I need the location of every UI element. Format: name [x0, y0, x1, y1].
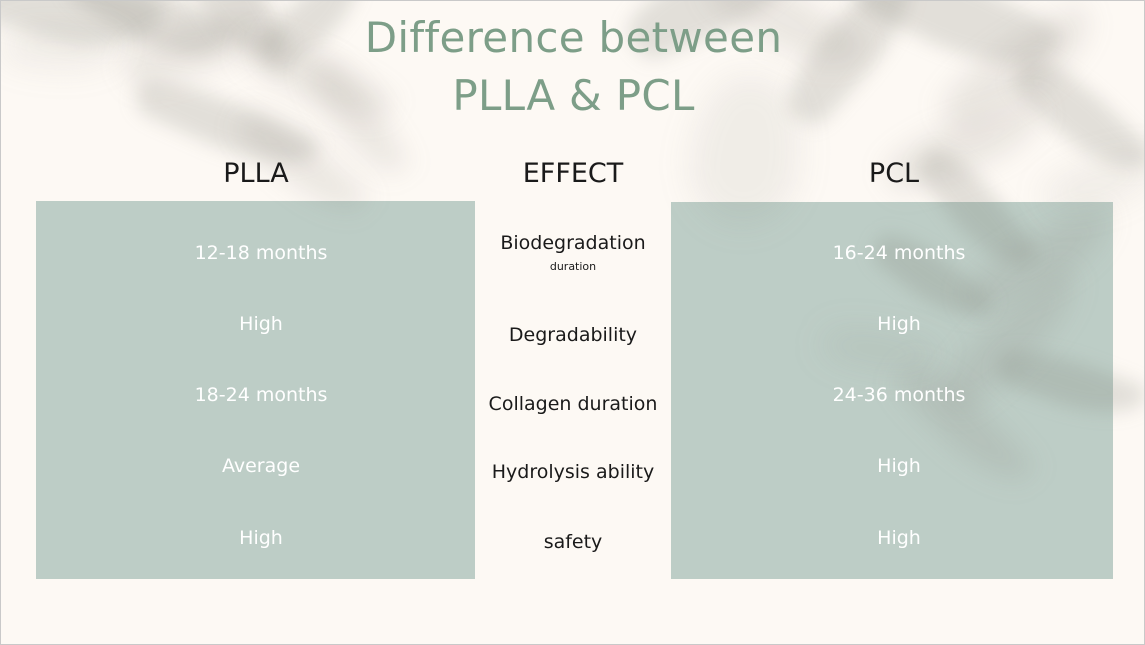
effect-label: Degradability	[509, 324, 637, 346]
column-header-effect: EFFECT	[473, 157, 673, 191]
plla-value: High	[239, 527, 283, 549]
effect-sublabel: duration	[463, 258, 683, 275]
table-row: Degradability	[463, 322, 683, 348]
table-row: 12-18 months	[151, 240, 371, 266]
title-line-1: Difference between	[1, 9, 1145, 67]
table-row: 18-24 months	[151, 382, 371, 408]
table-row: High	[151, 525, 371, 551]
table-row: High	[789, 525, 1009, 551]
effect-label: Biodegradation	[500, 232, 645, 254]
comparison-slide: Difference between PLLA & PCL PLLA EFFEC…	[0, 0, 1145, 645]
slide-title: Difference between PLLA & PCL	[1, 9, 1145, 125]
table-row: 24-36 months	[789, 382, 1009, 408]
effect-label: safety	[544, 531, 603, 553]
table-row: safety	[463, 529, 683, 555]
pcl-value: High	[877, 455, 921, 477]
table-row: Hydrolysis ability	[463, 459, 683, 485]
plla-value: High	[239, 313, 283, 335]
table-row: High	[789, 311, 1009, 337]
table-row: High	[789, 453, 1009, 479]
table-row: High	[151, 311, 371, 337]
pcl-value: 16-24 months	[833, 242, 966, 264]
plla-value: 18-24 months	[195, 384, 328, 406]
effect-label: Collagen duration	[489, 393, 658, 415]
table-row: Collagen duration	[463, 391, 683, 417]
pcl-value: High	[877, 313, 921, 335]
title-line-2: PLLA & PCL	[1, 67, 1145, 125]
plla-value: 12-18 months	[195, 242, 328, 264]
column-headers: PLLA EFFECT PCL	[1, 157, 1145, 195]
table-row: Average	[151, 453, 371, 479]
table-row: Biodegradation duration	[463, 230, 683, 275]
effect-label: Hydrolysis ability	[492, 461, 654, 483]
pcl-value: 24-36 months	[833, 384, 966, 406]
column-header-plla: PLLA	[156, 157, 356, 191]
table-row: 16-24 months	[789, 240, 1009, 266]
column-header-pcl: PCL	[794, 157, 994, 191]
pcl-value: High	[877, 527, 921, 549]
plla-value: Average	[222, 455, 300, 477]
